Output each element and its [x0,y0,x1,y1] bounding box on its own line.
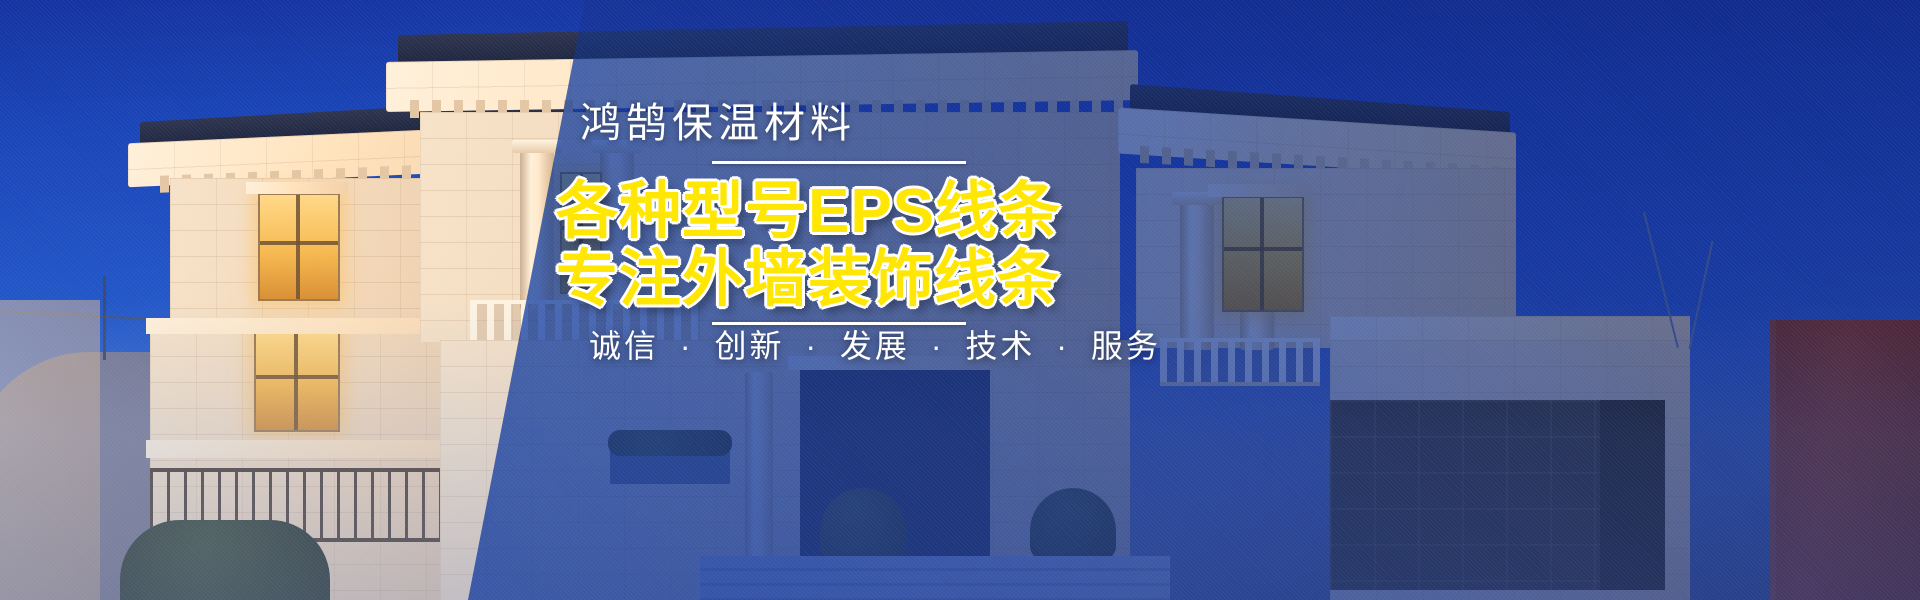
tagline-item-2: 发展 [840,328,910,364]
divider-rule-top [712,161,966,164]
tagline-item-1: 创新 [714,328,784,364]
tagline-separator-3: · [1047,328,1079,364]
tagline-item-0: 诚信 [589,328,659,364]
promo-banner: 鸿鹄保温材料 各种型号EPS线条 专注外墙装饰线条 诚信 · 创新 · 发展 ·… [0,0,1920,600]
headline-line-2: 专注外墙装饰线条 [556,251,1061,308]
tagline-separator-1: · [796,328,828,364]
company-name: 鸿鹄保温材料 [580,103,856,144]
tagline-item-3: 技术 [965,328,1035,364]
tagline-separator-0: · [671,328,703,364]
divider-rule-bottom [712,322,966,325]
banner-content: 鸿鹄保温材料 各种型号EPS线条 专注外墙装饰线条 诚信 · 创新 · 发展 ·… [0,0,1920,600]
headline: 各种型号EPS线条 专注外墙装饰线条 [556,183,1061,308]
headline-line-1: 各种型号EPS线条 [556,177,1061,246]
tagline-separator-2: · [922,328,954,364]
tagline-item-4: 服务 [1091,328,1161,364]
tagline: 诚信 · 创新 · 发展 · 技术 · 服务 [589,330,1161,362]
